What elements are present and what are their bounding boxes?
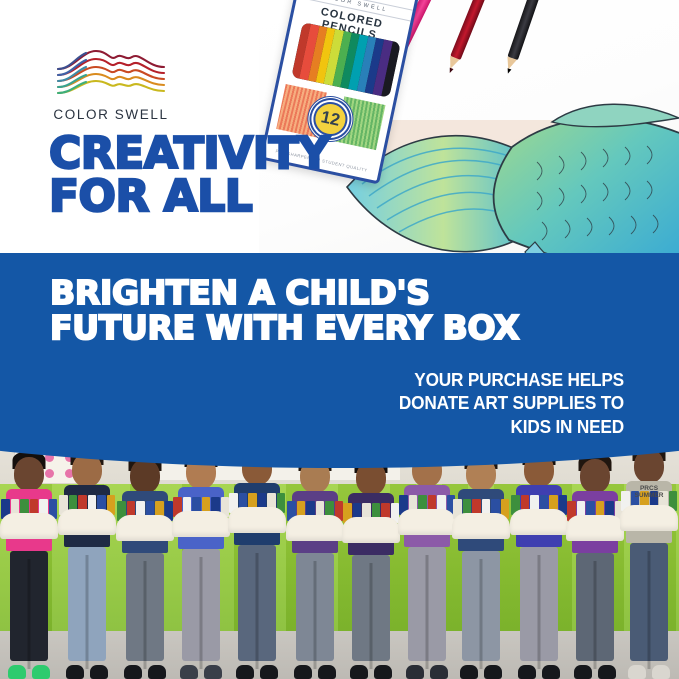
brand-logo-wordmark: COLOR SWELL <box>52 107 170 122</box>
kid-5 <box>228 441 286 679</box>
kid-legs <box>238 545 276 661</box>
kid-legs <box>630 543 668 661</box>
hero-headline: CREATIVITY FOR ALL <box>49 132 330 218</box>
hero-section: COLOR SWELL COLORED PENCILS 12 PRE-SHARP… <box>0 0 679 258</box>
kid-supply-carton <box>452 513 510 539</box>
kid-shoes <box>8 664 50 679</box>
kid-legs <box>296 553 334 661</box>
kid-7 <box>342 451 400 679</box>
kid-legs <box>520 547 558 661</box>
kid-supply-carton <box>286 515 344 541</box>
kid-legs <box>68 547 106 661</box>
kid-4 <box>172 445 230 679</box>
kid-supply-carton <box>510 509 568 535</box>
kid-legs <box>126 553 164 661</box>
banner-subtext-line3: KIDS IN NEED <box>399 415 624 438</box>
kid-supply-carton <box>58 509 116 535</box>
kid-supply-carton <box>342 517 400 543</box>
brand-logo[interactable]: COLOR SWELL <box>52 47 172 122</box>
kid-shoes <box>406 664 448 679</box>
kid-supply-carton <box>620 505 678 531</box>
kid-1 <box>0 447 58 679</box>
kid-12: PRCS SUMMER <box>620 439 678 679</box>
kid-supply-carton <box>172 511 230 537</box>
kid-2 <box>58 443 116 679</box>
kid-shoes <box>66 664 108 679</box>
banner-headline-line2: FUTURE WITH EVERY BOX <box>50 310 519 345</box>
banner-subtext-line2: DONATE ART SUPPLIES TO <box>399 391 624 414</box>
kid-legs <box>576 553 614 661</box>
kid-10 <box>510 443 568 679</box>
banner-subtext-line1: YOUR PURCHASE HELPS <box>399 368 624 391</box>
kid-shoes <box>518 664 560 679</box>
kid-shoes <box>294 664 336 679</box>
kid-head <box>130 459 160 493</box>
kid-legs <box>182 549 220 661</box>
kid-shoes <box>236 664 278 679</box>
color-swell-wave-logo-icon <box>52 47 170 105</box>
kid-6 <box>286 449 344 679</box>
kid-legs <box>352 555 390 661</box>
banner-headline: BRIGHTEN A CHILD'S FUTURE WITH EVERY BOX <box>50 275 519 346</box>
banner-subtext: YOUR PURCHASE HELPS DONATE ART SUPPLIES … <box>399 368 624 438</box>
kid-shoes <box>628 664 670 679</box>
kid-supply-carton <box>398 509 456 535</box>
kid-head <box>14 457 44 491</box>
kid-legs <box>462 551 500 661</box>
banner-headline-line1: BRIGHTEN A CHILD'S <box>50 273 430 312</box>
kid-shoes <box>460 664 502 679</box>
kid-3 <box>116 449 174 679</box>
donation-banner: BRIGHTEN A CHILD'S FUTURE WITH EVERY BOX… <box>0 253 679 468</box>
kid-supply-carton <box>566 515 624 541</box>
kid-9 <box>452 447 510 679</box>
kid-supply-carton <box>116 515 174 541</box>
kid-shoes <box>124 664 166 679</box>
promotional-poster: COLOR SWELL COLORED PENCILS 12 PRE-SHARP… <box>0 0 679 679</box>
kid-supply-carton <box>228 507 286 533</box>
kid-supply-carton <box>0 513 58 539</box>
kid-11 <box>566 449 624 679</box>
shirt-text: PRCS SUMMER <box>627 485 671 500</box>
kid-shoes <box>350 664 392 679</box>
kid-head <box>580 459 610 493</box>
kid-legs <box>10 551 48 661</box>
kid-8 <box>398 443 456 679</box>
kid-shoes <box>180 664 222 679</box>
hero-headline-line2: FOR ALL <box>49 175 330 218</box>
kid-shoes <box>574 664 616 679</box>
kid-legs <box>408 547 446 661</box>
